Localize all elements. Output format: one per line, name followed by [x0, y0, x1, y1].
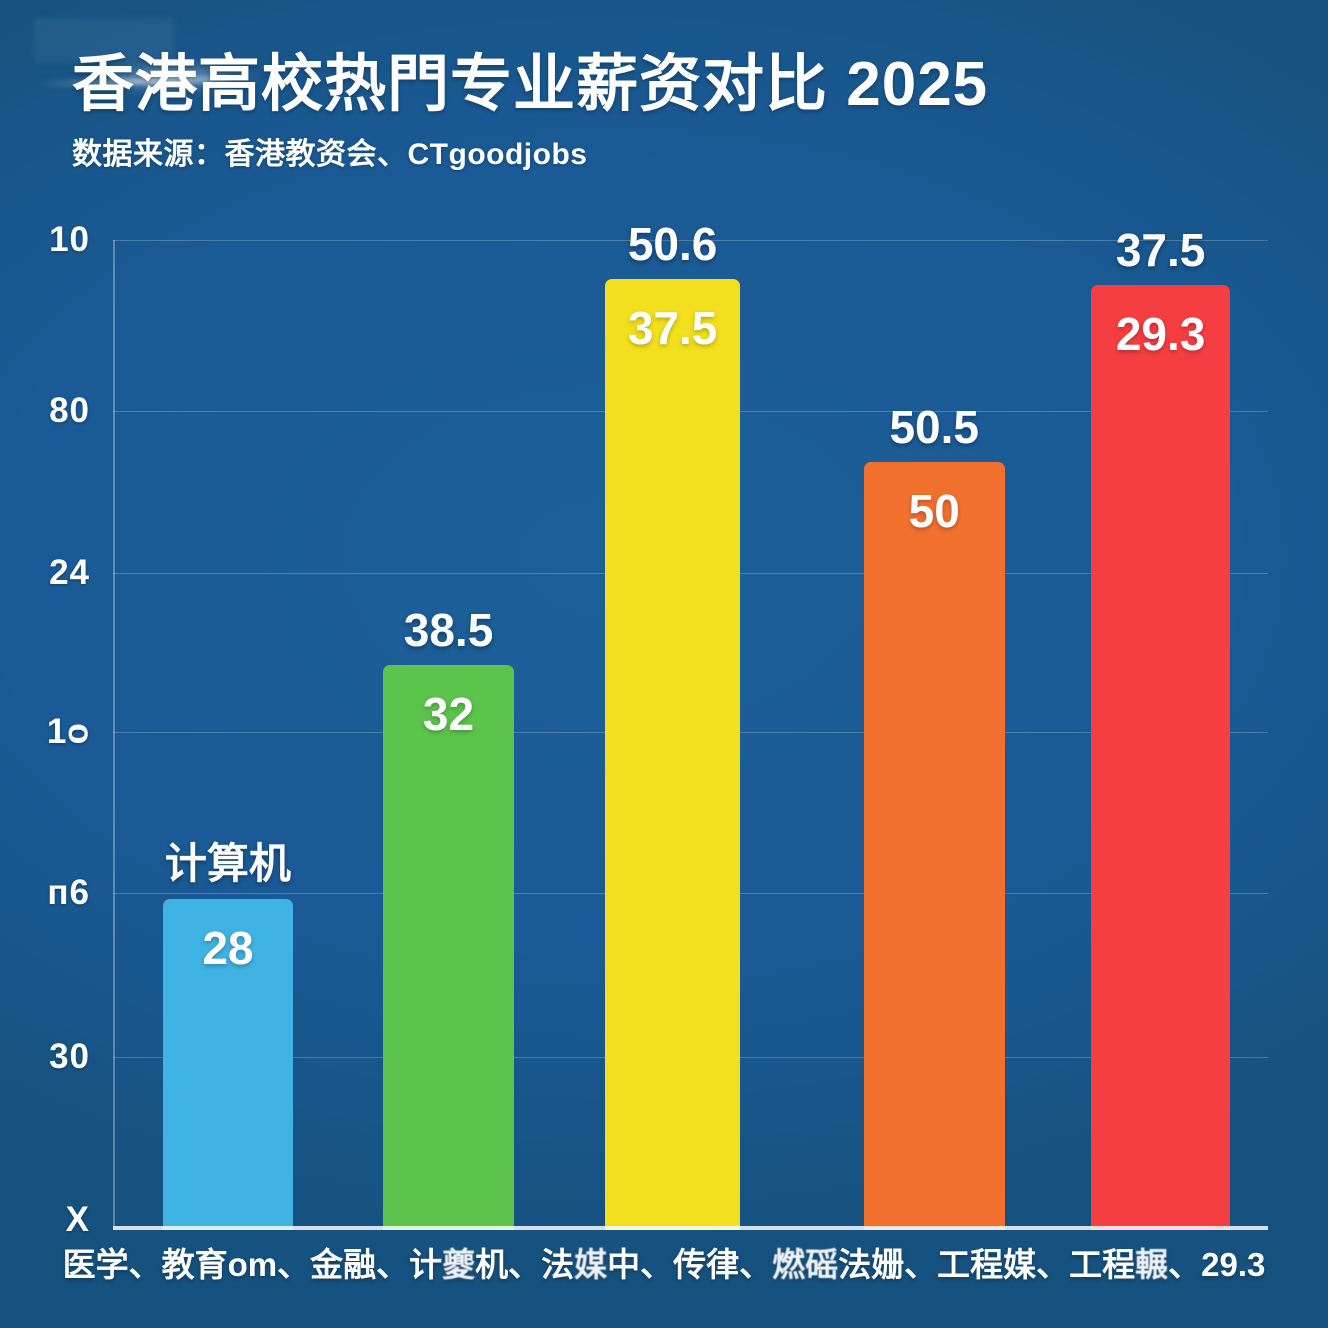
bar[interactable]: 29.3: [1091, 285, 1230, 1230]
y-axis-tick-label: X: [0, 1200, 90, 1240]
x-axis-baseline: [113, 1226, 1268, 1230]
bar-slot: 28计算机: [163, 240, 294, 1230]
bar-top-label: 37.5: [1091, 223, 1230, 277]
data-source-subtitle: 数据来源：香港教资会、CTgoodjobs: [72, 129, 1252, 173]
chart-poster: 香港高校热門专业薪资对比 2025 数据来源：香港教资会、CTgoodjobs …: [0, 0, 1328, 1328]
bar[interactable]: 50: [864, 462, 1005, 1230]
bar[interactable]: 32: [383, 665, 514, 1230]
x-axis-caption-part-4: 法姗、工程媒、工程: [838, 1246, 1135, 1283]
x-axis-caption-garbled-glyph-2: 媒: [574, 1238, 607, 1286]
y-axis-tick-label: 30: [0, 1037, 90, 1077]
bar-slot: 5050.5: [864, 240, 1005, 1230]
bar-value-label: 29.3: [1091, 307, 1230, 361]
bar-value-label: 28: [163, 921, 294, 975]
bar-value-label: 50: [864, 484, 1005, 538]
chart-header: 香港高校热門专业薪资对比 2025 数据来源：香港教资会、CTgoodjobs: [72, 52, 1252, 173]
x-axis-caption-garbled-glyph-1: 夔: [442, 1238, 475, 1286]
x-axis-caption-garbled-glyph-3: 燃磘: [772, 1238, 838, 1286]
bar[interactable]: 28: [163, 899, 294, 1230]
bar-top-label: 38.5: [383, 603, 514, 657]
bar-slot: 29.337.5: [1091, 240, 1230, 1230]
bar-value-label: 37.5: [605, 301, 740, 355]
x-axis-caption-part-1: 医学、教育om、金融、计: [63, 1246, 443, 1283]
bar[interactable]: 37.5: [605, 279, 740, 1230]
x-axis-caption-part-2: 机、法: [475, 1246, 574, 1283]
bar-category-label: 计算机: [163, 830, 294, 891]
bar-group: 28计算机3238.537.550.65050.529.337.5: [113, 240, 1268, 1230]
y-axis-tick-label: 10: [0, 220, 90, 260]
y-axis-tick-label: ᴨ6: [0, 873, 90, 913]
bar-value-label: 32: [383, 687, 514, 741]
page-title: 香港高校热門专业薪资对比 2025: [72, 52, 1252, 117]
bar-slot: 37.550.6: [605, 240, 740, 1230]
x-axis-caption: 医学、教育om、金融、计夔机、法媒中、传律、燃磘法姗、工程媒、工程輾、29.3: [0, 1238, 1328, 1286]
x-axis-caption-part-5: 、29.3: [1168, 1246, 1265, 1283]
x-axis-caption-garbled-glyph-4: 輾: [1135, 1238, 1168, 1286]
y-axis-tick-label: 1ᴑ: [0, 712, 90, 752]
bar-top-label: 50.5: [864, 400, 1005, 454]
bar-slot: 3238.5: [383, 240, 514, 1230]
y-axis-tick-label: 24: [0, 553, 90, 593]
x-axis-caption-part-3: 中、传律、: [607, 1246, 772, 1283]
plot-area: 1080241ᴑᴨ630X 28计算机3238.537.550.65050.52…: [113, 240, 1268, 1230]
y-axis-tick-label: 80: [0, 391, 90, 431]
bar-top-label: 50.6: [605, 217, 740, 271]
